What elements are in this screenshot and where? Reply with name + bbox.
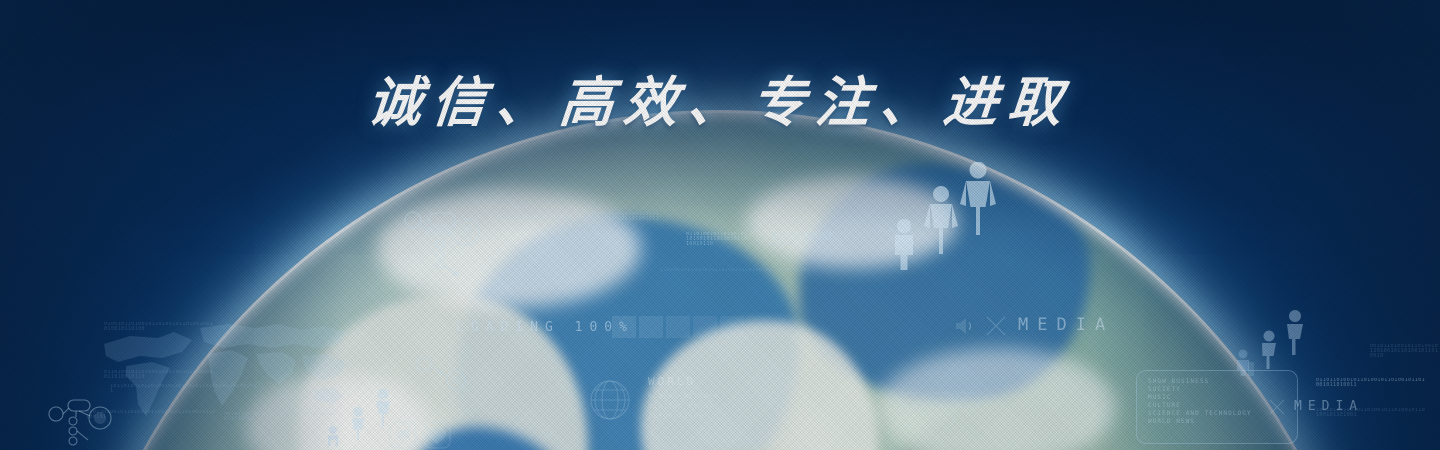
page-title: 诚信、高效、专注、进取 bbox=[0, 58, 1440, 137]
hero-banner: 0100101101001011010010110100101101001011… bbox=[0, 0, 1440, 450]
